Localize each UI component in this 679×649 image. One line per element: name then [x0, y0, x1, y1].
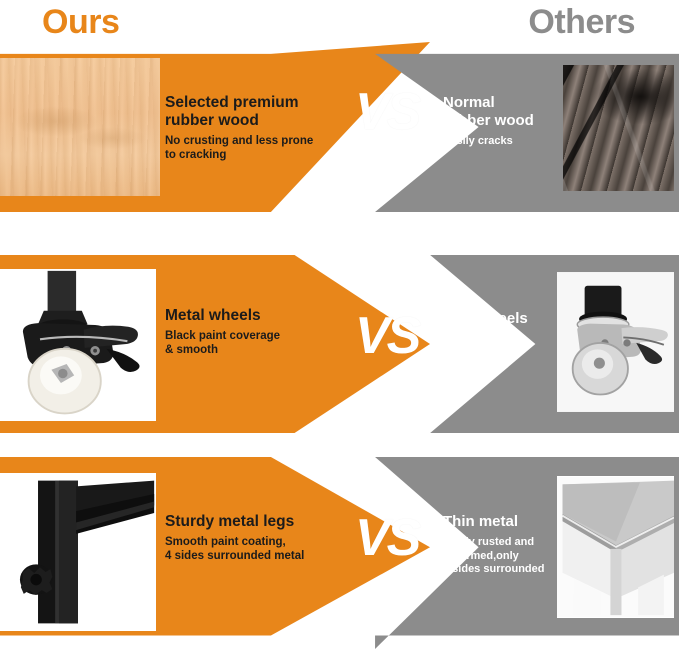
black-metal-leg-photo	[0, 469, 160, 635]
tiny-grey-caster-photo	[552, 267, 679, 417]
vs-badge-wheels: VS	[355, 310, 418, 362]
comparison-infographic: Ours Others Selected premium rubber wood…	[0, 0, 679, 649]
ours-title-legs: Sturdy metal legs	[165, 513, 345, 531]
ours-subtitle-wheels: Black paint coverage & smooth	[165, 330, 345, 357]
ours-text-wheels: Metal wheels Black paint coverage & smoo…	[165, 307, 345, 357]
vs-badge-legs: VS	[355, 512, 418, 564]
comparison-row-wood: Selected premium rubber wood No crusting…	[0, 42, 679, 212]
header-title-ours: Ours	[42, 2, 119, 42]
ours-text-legs: Sturdy metal legs Smooth paint coating, …	[165, 513, 345, 563]
others-title-wheels: Tiny wheels	[443, 310, 563, 328]
others-subtitle-wheels: Not sturdy	[443, 333, 563, 347]
ours-title-wheels: Metal wheels	[165, 307, 345, 325]
others-text-wood: Normal rubber wood Easily cracks	[443, 94, 563, 149]
others-text-wheels: Tiny wheels Not sturdy	[443, 310, 563, 347]
ours-subtitle-legs: Smooth paint coating, 4 sides surrounded…	[165, 536, 345, 563]
others-title-wood: Normal rubber wood	[443, 94, 563, 130]
comparison-row-legs: Sturdy metal legs Smooth paint coating, …	[0, 457, 679, 649]
cracked-wood-photo	[558, 60, 679, 196]
thin-stainless-corner-photo	[552, 471, 679, 623]
others-title-legs: Thin metal	[443, 513, 563, 531]
black-metal-caster-photo	[0, 265, 160, 425]
others-subtitle-legs: Easily rusted and deformed,only 3 sides …	[443, 536, 563, 577]
premium-rubber-wood-photo	[0, 54, 160, 200]
ours-subtitle-wood: No crusting and less prone to cracking	[165, 135, 345, 162]
header-title-others: Others	[528, 2, 635, 42]
ours-title-wood: Selected premium rubber wood	[165, 94, 345, 130]
others-text-legs: Thin metal Easily rusted and deformed,on…	[443, 513, 563, 577]
vs-badge-wood: VS	[355, 86, 418, 138]
comparison-row-wheels: Metal wheels Black paint coverage & smoo…	[0, 255, 679, 433]
others-subtitle-wood: Easily cracks	[443, 135, 563, 149]
ours-text-wood: Selected premium rubber wood No crusting…	[165, 94, 345, 162]
